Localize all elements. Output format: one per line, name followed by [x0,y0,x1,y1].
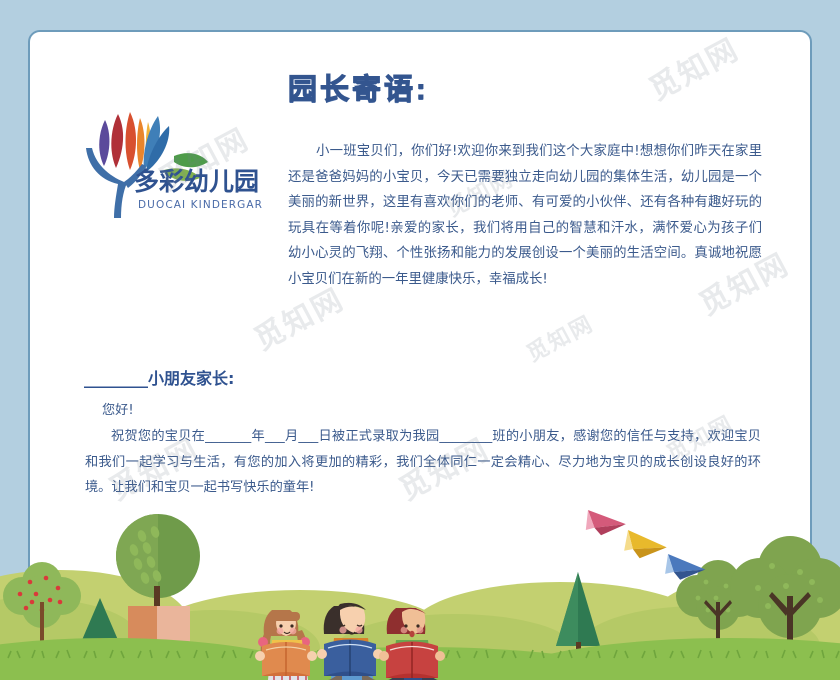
page-title: 园长寄语: [288,76,429,105]
logo-petals [99,112,169,172]
bottom-illustration [0,490,840,680]
poster-canvas: 多彩幼儿园 DUOCAI KINDERGARTEN 园长寄语: 小一班宝贝们，你… [0,0,840,680]
parent-name-blank: ________ [84,369,148,388]
parent-salutation-label: 小朋友家长: [148,369,234,388]
children-reading-group [255,603,445,680]
parent-salutation: ________小朋友家长: [84,368,234,390]
logo-name-en: DUOCAI KINDERGARTEN [138,199,262,211]
paper-plane-yellow [621,530,668,565]
paper-plane-pink [583,510,627,540]
parent-greeting: 您好! [102,400,134,422]
paper-planes-group [583,510,706,585]
kindergarten-logo: 多彩幼儿园 DUOCAI KINDERGARTEN [72,104,262,224]
logo-name-cn: 多彩幼儿园 [134,167,259,196]
principal-message-body: 小一班宝贝们，你们好!欢迎你来到我们这个大家庭中!想想你们昨天在家里还是爸爸妈妈… [288,139,762,292]
